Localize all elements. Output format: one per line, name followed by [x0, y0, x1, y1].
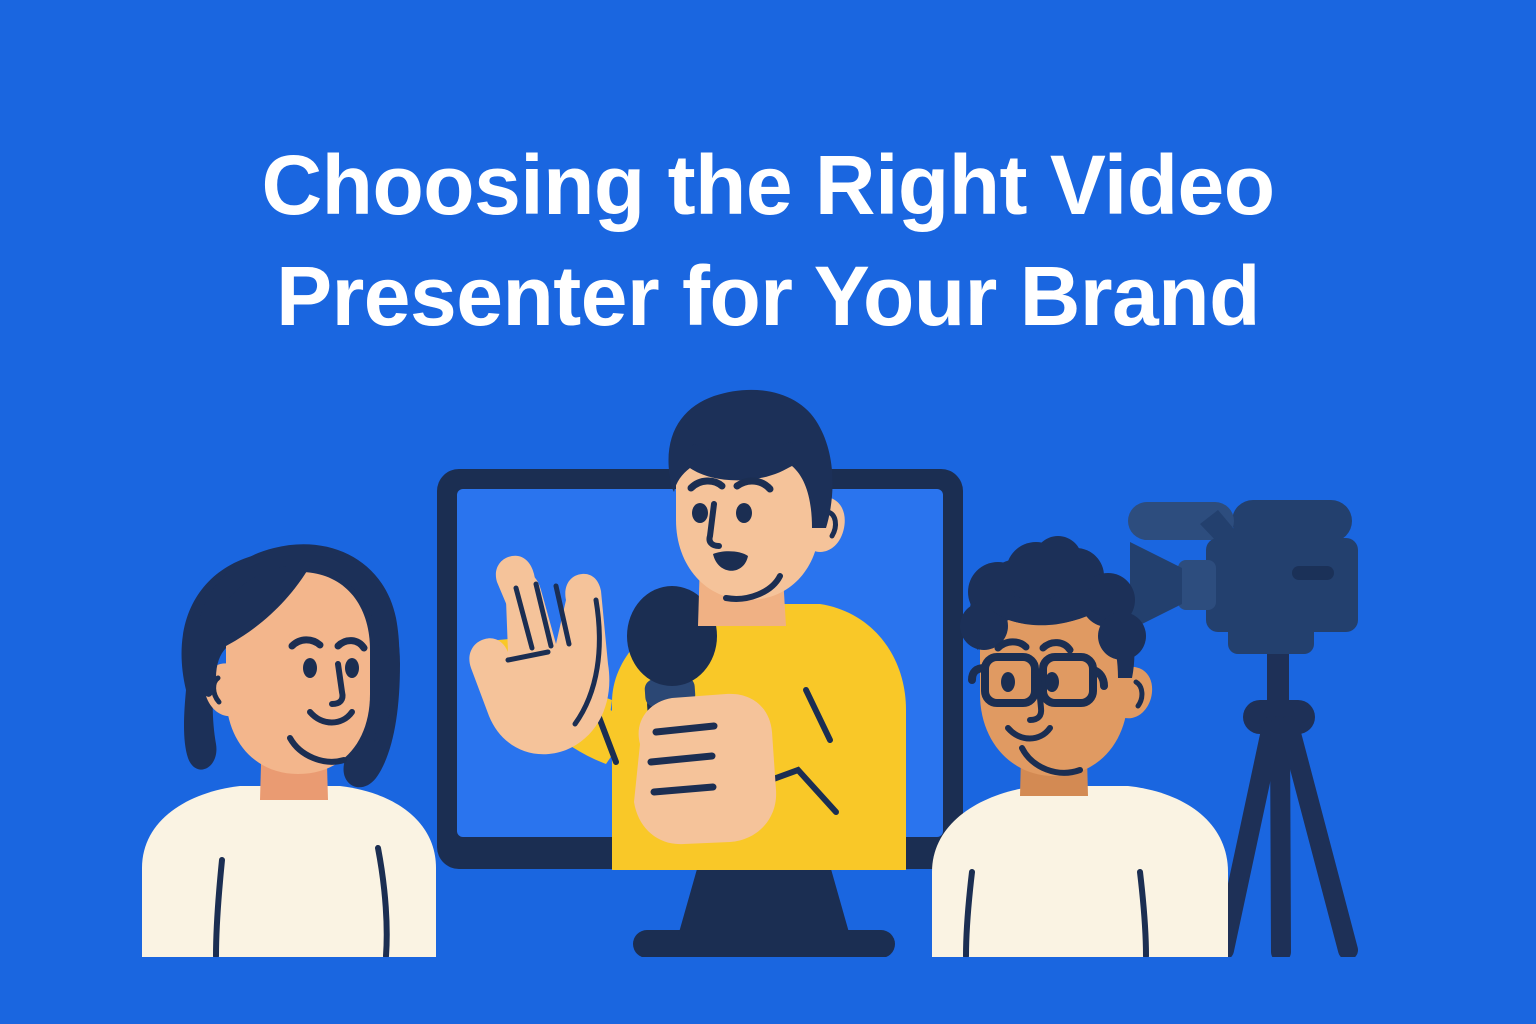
- studio-illustration: [0, 0, 1536, 1024]
- poster-canvas: Choosing the Right Video Presenter for Y…: [0, 0, 1536, 1024]
- viewer-left-woman: [142, 544, 436, 958]
- gripping-hand: [634, 694, 776, 844]
